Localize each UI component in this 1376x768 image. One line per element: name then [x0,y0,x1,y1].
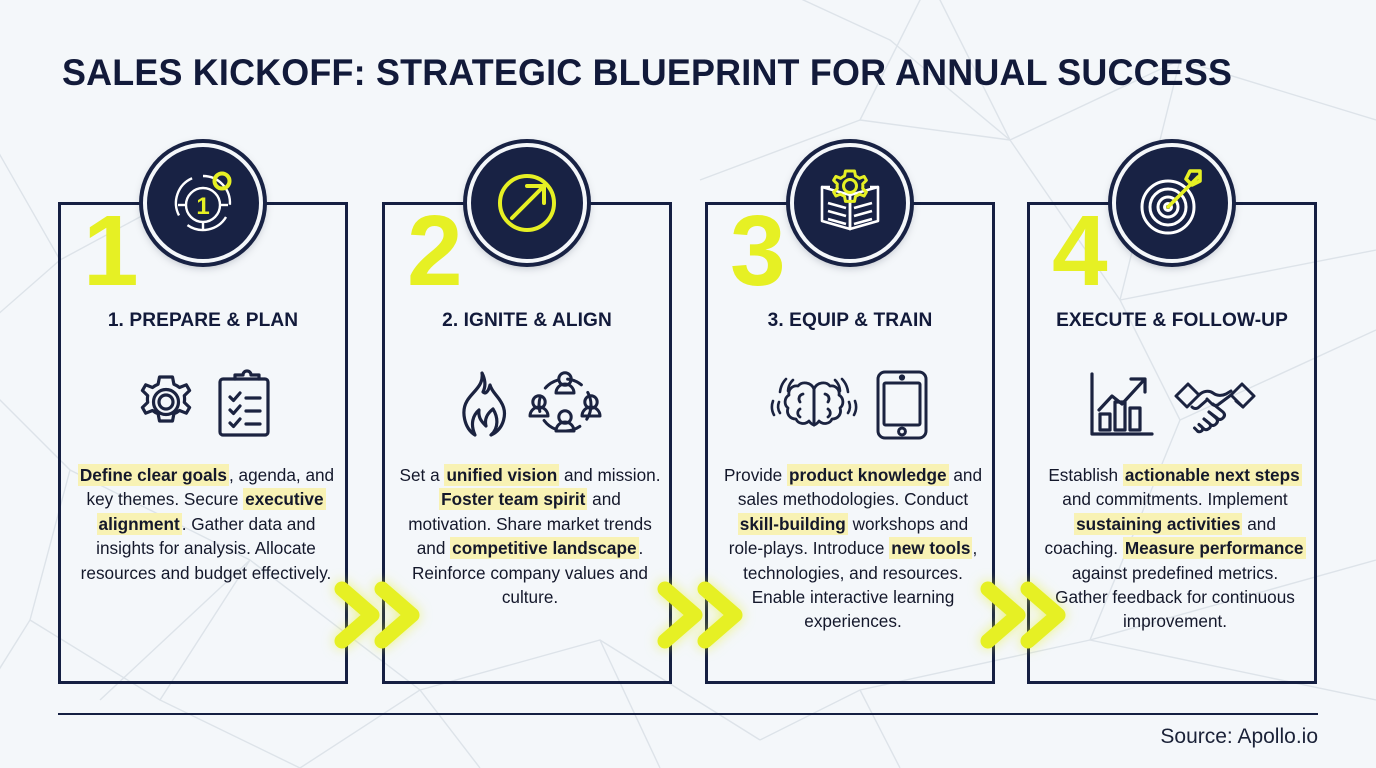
step-heading-4: EXECUTE & FOLLOW-UP [1033,309,1311,332]
svg-text:1: 1 [196,193,209,220]
badge-book-gear-icon [790,143,910,263]
step-body-2: Set a unified vision and mission. Foster… [399,463,661,609]
flame-icon [450,368,510,442]
badge-growth-arrow-circle-icon [467,143,587,263]
source-attribution: Source: Apollo.io [1160,725,1318,749]
step-icons-1 [61,353,345,457]
handshake-icon [1172,374,1258,436]
step-number-3: 3 [730,203,784,299]
step-number-4: 4 [1052,203,1106,299]
footer-divider [58,713,1318,715]
step-body-4: Establish actionable next steps and comm… [1044,463,1306,634]
step-card-1[interactable]: 1 1 1. PREPARE & PLAN [58,202,348,684]
step-icons-2 [385,353,669,457]
gear-icon [133,371,199,439]
badge-gauge-dial-one-icon: 1 [143,143,263,263]
tablet-icon [874,368,930,442]
steps-container: 1 1 1. PREPARE & PLAN [0,202,1376,684]
chevron-connector-3 [976,577,1072,653]
clipboard-checklist-icon [215,369,273,441]
badge-target-dart-icon [1112,143,1232,263]
step-icons-3 [708,353,992,457]
step-heading-2: 2. IGNITE & ALIGN [388,309,666,332]
chevron-connector-2 [653,577,749,653]
chevron-connector-1 [330,577,426,653]
step-heading-3: 3. EQUIP & TRAIN [711,309,989,332]
step-number-1: 1 [83,203,137,299]
team-network-icon [526,367,604,443]
brain-icon [770,367,858,443]
step-icons-4 [1030,353,1314,457]
step-body-3: Provide product knowledge and sales meth… [722,463,984,634]
step-body-1: Define clear goals, agenda, and key them… [75,463,337,585]
step-heading-1: 1. PREPARE & PLAN [64,309,342,332]
page-title: SALES KICKOFF: STRATEGIC BLUEPRINT FOR A… [62,52,1284,94]
bar-chart-growth-icon [1086,370,1156,440]
step-number-2: 2 [407,203,461,299]
